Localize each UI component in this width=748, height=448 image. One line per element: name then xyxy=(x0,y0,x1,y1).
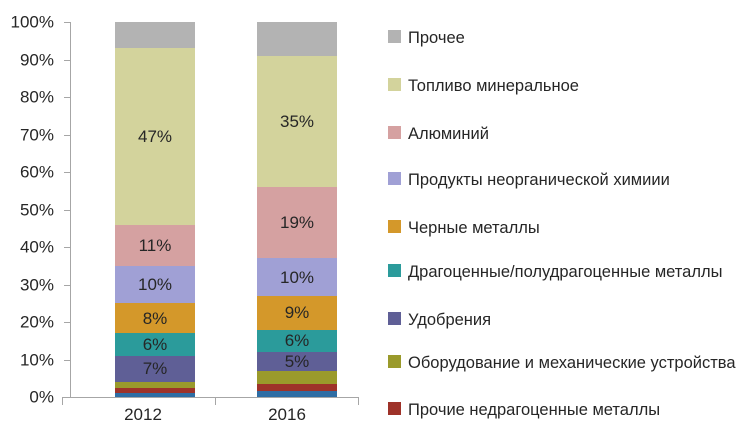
y-axis-tick-label: 50% xyxy=(20,201,54,218)
legend-swatch-icon xyxy=(388,220,401,233)
bar-segment-label: 19% xyxy=(280,214,314,231)
plot-area: 7%6%8%10%11%47% 5%6%9%10%19%35% xyxy=(71,22,359,397)
bar-segment[interactable]: 6% xyxy=(115,333,195,356)
bar-segment-label: 47% xyxy=(138,128,172,145)
bar-segment[interactable]: 10% xyxy=(115,266,195,304)
x-axis-line xyxy=(62,397,359,398)
bar-segment-label: 10% xyxy=(280,269,314,286)
bar-segment[interactable]: 6% xyxy=(257,330,337,353)
legend-swatch-icon xyxy=(388,355,401,368)
bar-segment-label: 10% xyxy=(138,276,172,293)
legend-item[interactable]: Удобрения xyxy=(388,310,491,331)
legend-label: Прочее xyxy=(408,28,465,49)
legend-item[interactable]: Топливо минеральное xyxy=(388,76,579,97)
x-tick-mark xyxy=(358,398,359,405)
legend-swatch-icon xyxy=(388,402,401,415)
bar-segment-label: 9% xyxy=(285,304,310,321)
bar-segment[interactable]: 8% xyxy=(115,303,195,333)
bar-segment[interactable] xyxy=(115,382,195,388)
legend-item[interactable]: Продукты неорганической химиии xyxy=(388,170,670,191)
legend-swatch-icon xyxy=(388,312,401,325)
bar-segment[interactable]: 35% xyxy=(257,56,337,187)
bar-segment[interactable]: 5% xyxy=(257,352,337,371)
bar-segment[interactable]: 9% xyxy=(257,296,337,330)
y-axis-tick-label: 10% xyxy=(20,351,54,368)
legend-item[interactable]: Оборудование и механические устройства xyxy=(388,353,736,374)
bar-segment-label: 6% xyxy=(285,332,310,349)
legend-label: Оборудование и механические устройства xyxy=(408,353,736,374)
stacked-bar-chart: 0%10%20%30%40%50%60%70%80%90%100% 7%6%8%… xyxy=(0,0,748,448)
legend-label: Черные металлы xyxy=(408,218,540,239)
bar-segment[interactable] xyxy=(115,22,195,48)
y-axis-tick-label: 60% xyxy=(20,164,54,181)
y-axis-tick-label: 40% xyxy=(20,239,54,256)
x-tick-mark xyxy=(62,398,63,405)
chart-legend: ПрочееТопливо минеральноеАлюминийПродукт… xyxy=(388,18,744,438)
y-axis-tick-label: 20% xyxy=(20,314,54,331)
bar-segment-label: 7% xyxy=(143,360,168,377)
bar-segment[interactable]: 10% xyxy=(257,258,337,296)
legend-item[interactable]: Черные металлы xyxy=(388,218,540,239)
legend-swatch-icon xyxy=(388,30,401,43)
bar-segment-label: 11% xyxy=(139,237,172,254)
x-tick-mark xyxy=(215,398,216,405)
y-axis-tick-label: 80% xyxy=(20,89,54,106)
y-axis-tick-label: 70% xyxy=(20,126,54,143)
bar-segment[interactable]: 19% xyxy=(257,187,337,258)
legend-swatch-icon xyxy=(388,172,401,185)
legend-item[interactable]: Прочее xyxy=(388,28,465,49)
bar-segment[interactable]: 7% xyxy=(115,356,195,382)
bar-2016[interactable]: 5%6%9%10%19%35% xyxy=(257,22,337,397)
bar-segment[interactable]: 11% xyxy=(115,225,195,266)
y-axis-tick-label: 30% xyxy=(20,276,54,293)
legend-swatch-icon xyxy=(388,264,401,277)
legend-item[interactable]: Прочие недрагоценные металлы xyxy=(388,400,660,421)
y-axis-tick-label: 100% xyxy=(11,14,54,31)
bar-segment-label: 6% xyxy=(143,336,168,353)
legend-label: Топливо минеральное xyxy=(408,76,579,97)
legend-item[interactable]: Алюминий xyxy=(388,124,489,145)
bar-2012[interactable]: 7%6%8%10%11%47% xyxy=(115,22,195,397)
legend-swatch-icon xyxy=(388,78,401,91)
bar-segment[interactable] xyxy=(115,388,195,394)
y-axis-tick-label: 90% xyxy=(20,51,54,68)
bar-segment-label: 35% xyxy=(280,113,314,130)
legend-label: Удобрения xyxy=(408,310,491,331)
bar-segment[interactable] xyxy=(257,371,337,384)
legend-label: Продукты неорганической химиии xyxy=(408,170,670,191)
bar-segment-label: 8% xyxy=(143,310,168,327)
y-axis-tick-label: 0% xyxy=(29,389,54,406)
bar-segment[interactable] xyxy=(257,22,337,56)
x-axis-label-2012: 2012 xyxy=(71,406,215,423)
legend-label: Прочие недрагоценные металлы xyxy=(408,400,660,421)
legend-item[interactable]: Драгоценные/полудрагоценные металлы xyxy=(388,262,722,283)
bar-segment[interactable]: 47% xyxy=(115,48,195,224)
y-axis: 0%10%20%30%40%50%60%70%80%90%100% xyxy=(0,0,62,448)
legend-label: Алюминий xyxy=(408,124,489,145)
bar-segment[interactable] xyxy=(257,384,337,392)
legend-swatch-icon xyxy=(388,126,401,139)
bar-segment-label: 5% xyxy=(285,353,310,370)
legend-label: Драгоценные/полудрагоценные металлы xyxy=(408,262,722,283)
x-axis-label-2016: 2016 xyxy=(215,406,359,423)
